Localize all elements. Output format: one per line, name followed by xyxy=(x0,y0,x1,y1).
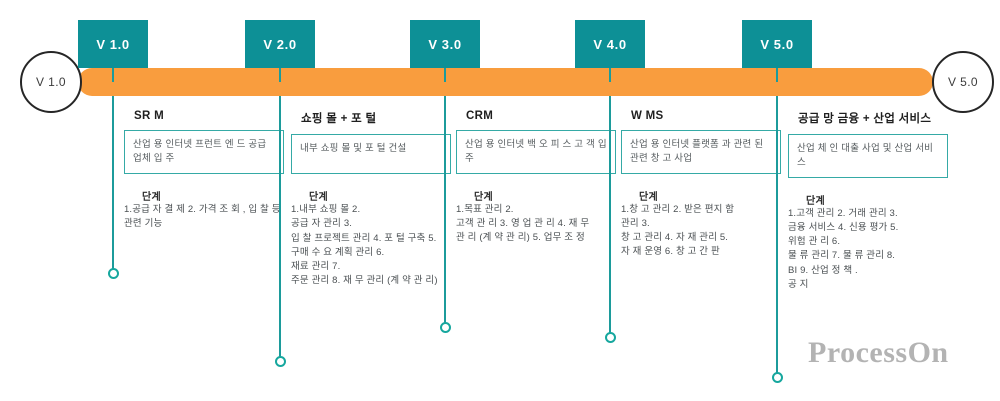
milestone-column-5: 공급 망 금융 + 산업 서비스 산업 체 인 대출 사업 및 산업 서비스 단… xyxy=(776,110,962,292)
milestone-steps-1: 1.공급 자 결 제 2. 가격 조 회 , 입 찰 등 관련 기능 xyxy=(124,203,292,232)
milestone-title-4: W MS xyxy=(631,110,795,122)
processon-watermark: ProcessOn xyxy=(808,336,949,370)
connector-end-dot-2 xyxy=(275,356,286,367)
connector-end-dot-3 xyxy=(440,322,451,333)
milestone-title-2: 쇼핑 몰 + 포 털 xyxy=(301,110,465,126)
milestone-badge-label-2: V 2.0 xyxy=(263,37,296,52)
milestone-steps-4: 1.창 고 관리 2. 받은 편지 함 관리 3. 창 고 관리 4. 자 재 … xyxy=(621,203,789,260)
connector-up-3 xyxy=(444,68,446,82)
milestone-column-1: SR M 산업 용 인터넷 프런트 엔 드 공급 업체 입 주 단계 1.공급 … xyxy=(112,110,298,231)
milestone-title-1: SR M xyxy=(134,110,298,122)
timeline-diagram: V 1.0 V 5.0 V 1.0 SR M 산업 용 인터넷 프런트 엔 드 … xyxy=(0,0,1000,401)
timeline-end-marker: V 5.0 xyxy=(932,51,994,113)
timeline-start-label: V 1.0 xyxy=(36,75,66,89)
milestone-badge-4[interactable]: V 4.0 xyxy=(575,20,645,68)
connector-up-4 xyxy=(609,68,611,82)
milestone-steps-5: 1.고객 관리 2. 거래 관리 3. 금융 서비스 4. 신용 평가 5. 위… xyxy=(788,207,956,293)
milestone-title-5: 공급 망 금융 + 산업 서비스 xyxy=(798,110,962,126)
milestone-column-2: 쇼핑 몰 + 포 털 내부 쇼핑 몰 및 포 털 건설 단계 1.내부 쇼핑 몰… xyxy=(279,110,465,289)
milestone-stage-label-3: 단계 xyxy=(474,188,630,203)
timeline-end-label: V 5.0 xyxy=(948,75,978,89)
timeline-start-marker: V 1.0 xyxy=(20,51,82,113)
milestone-stage-label-5: 단계 xyxy=(806,192,962,207)
milestone-badge-label-1: V 1.0 xyxy=(96,37,129,52)
milestone-badge-label-4: V 4.0 xyxy=(593,37,626,52)
milestone-stage-label-1: 단계 xyxy=(142,188,298,203)
milestone-stage-label-2: 단계 xyxy=(309,188,465,203)
connector-end-dot-4 xyxy=(605,332,616,343)
connector-up-2 xyxy=(279,68,281,82)
milestone-steps-3: 1.목표 관리 2. 고객 관 리 3. 영 업 관 리 4. 재 무 관 리 … xyxy=(456,203,624,246)
milestone-badge-1[interactable]: V 1.0 xyxy=(78,20,148,68)
milestone-badge-3[interactable]: V 3.0 xyxy=(410,20,480,68)
connector-end-dot-1 xyxy=(108,268,119,279)
milestone-steps-2: 1.내부 쇼핑 몰 2. 공급 자 관리 3. 입 찰 프로젝트 관리 4. 포… xyxy=(291,203,459,289)
connector-end-dot-5 xyxy=(772,372,783,383)
milestone-badge-label-3: V 3.0 xyxy=(428,37,461,52)
milestone-column-3: CRM 산업 용 인터넷 백 오 피 스 고 객 입 주 단계 1.목표 관리 … xyxy=(444,110,630,245)
milestone-description-5: 산업 체 인 대출 사업 및 산업 서비스 xyxy=(788,134,948,178)
milestone-description-4: 산업 용 인터넷 플랫폼 과 관련 된 관련 창 고 사업 xyxy=(621,130,781,174)
connector-up-1 xyxy=(112,68,114,82)
milestone-column-4: W MS 산업 용 인터넷 플랫폼 과 관련 된 관련 창 고 사업 단계 1.… xyxy=(609,110,795,260)
milestone-title-3: CRM xyxy=(466,110,630,122)
milestone-badge-2[interactable]: V 2.0 xyxy=(245,20,315,68)
connector-up-5 xyxy=(776,68,778,82)
milestone-description-2: 내부 쇼핑 몰 및 포 털 건설 xyxy=(291,134,451,174)
milestone-stage-label-4: 단계 xyxy=(639,188,795,203)
timeline-spine xyxy=(78,68,933,96)
milestone-badge-label-5: V 5.0 xyxy=(760,37,793,52)
milestone-description-3: 산업 용 인터넷 백 오 피 스 고 객 입 주 xyxy=(456,130,616,174)
milestone-description-1: 산업 용 인터넷 프런트 엔 드 공급 업체 입 주 xyxy=(124,130,284,174)
milestone-badge-5[interactable]: V 5.0 xyxy=(742,20,812,68)
